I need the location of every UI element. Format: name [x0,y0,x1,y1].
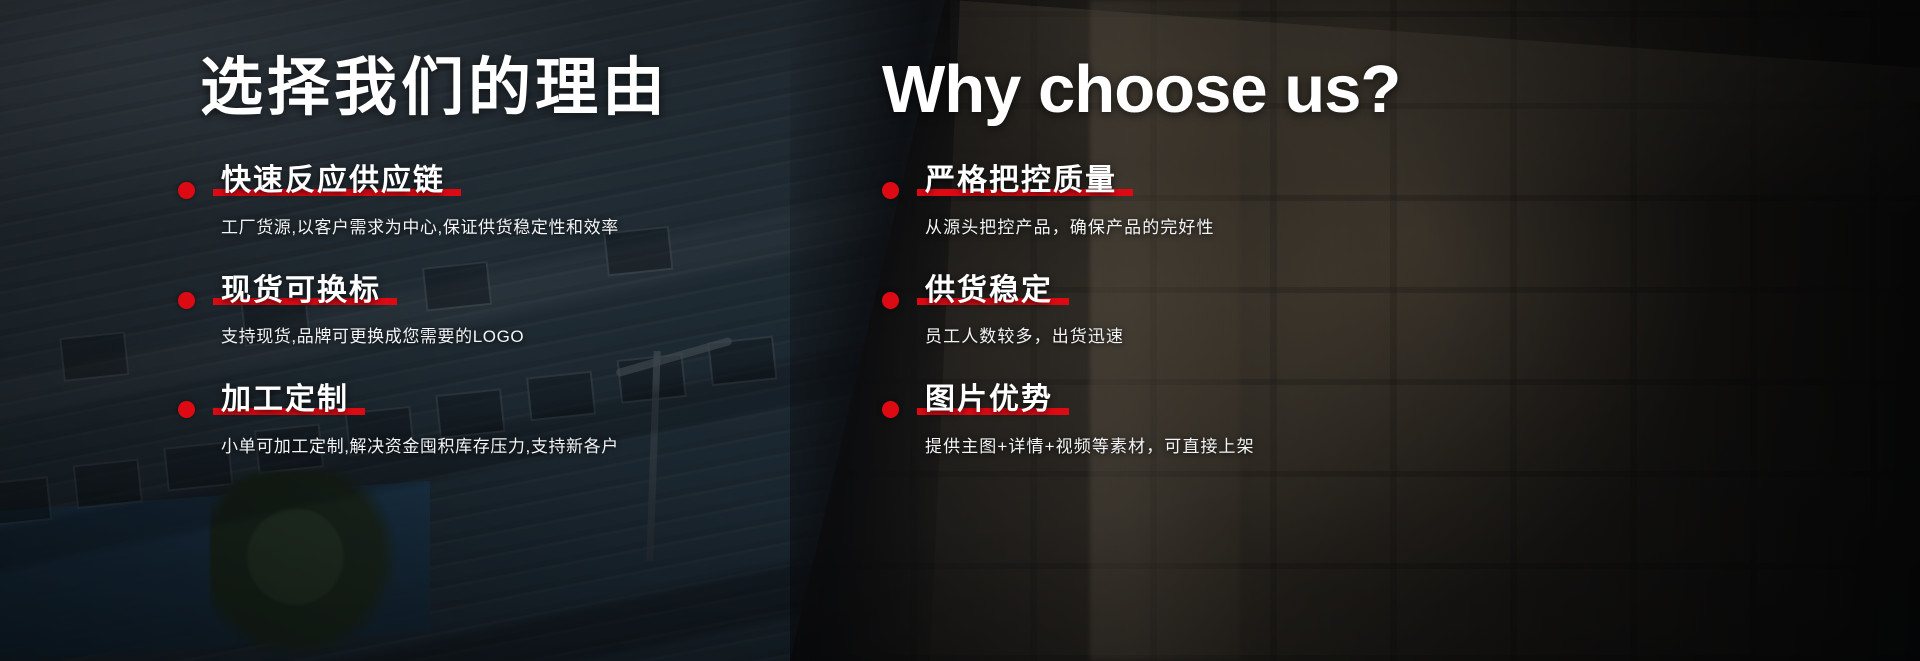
feature-description: 工厂货源,以客户需求为中心,保证供货稳定性和效率 [221,213,619,238]
feature-title-wrap: 图片优势 [925,381,1053,419]
feature-title: 快速反应供应链 [221,162,445,200]
feature-title: 图片优势 [925,381,1053,419]
feature-title-wrap: 供货稳定 [925,272,1053,310]
feature-item: 快速反应供应链 工厂货源,以客户需求为中心,保证供货稳定性和效率 [178,162,619,238]
bullet-dot-icon [882,292,899,309]
banner-content: 选择我们的理由 快速反应供应链 工厂货源,以客户需求为中心,保证供货稳定性和效率… [0,0,1920,661]
feature-description: 员工人数较多，出货迅速 [925,322,1255,347]
feature-item: 加工定制 小单可加工定制,解决资金囤积库存压力,支持新各户 [178,381,619,457]
feature-title-wrap: 严格把控质量 [925,162,1117,200]
left-column: 选择我们的理由 快速反应供应链 工厂货源,以客户需求为中心,保证供货稳定性和效率… [0,0,840,661]
feature-item: 图片优势 提供主图+详情+视频等素材，可直接上架 [882,381,1255,457]
page-title-chinese: 选择我们的理由 [200,57,669,120]
feature-description: 从源头把控产品，确保产品的完好性 [925,213,1255,238]
bullet-dot-icon [178,401,195,418]
feature-description: 支持现货,品牌可更换成您需要的LOGO [221,322,619,347]
bullet-dot-icon [178,182,195,199]
page-title-english: Why choose us? [882,56,1400,123]
feature-title: 现货可换标 [221,272,381,310]
feature-title: 供货稳定 [925,272,1053,310]
feature-title-wrap: 现货可换标 [221,272,381,310]
feature-item: 严格把控质量 从源头把控产品，确保产品的完好性 [882,162,1255,238]
feature-description: 提供主图+详情+视频等素材，可直接上架 [925,432,1255,457]
feature-list-english: 严格把控质量 从源头把控产品，确保产品的完好性 供货稳定 员工人数较多，出货迅速 [882,162,1255,457]
right-column: Why choose us? 严格把控质量 从源头把控产品，确保产品的完好性 供… [840,0,1920,661]
feature-title-wrap: 快速反应供应链 [221,162,445,200]
feature-title: 加工定制 [221,381,349,419]
bullet-dot-icon [882,182,899,199]
feature-item: 供货稳定 员工人数较多，出货迅速 [882,272,1255,348]
feature-description: 小单可加工定制,解决资金囤积库存压力,支持新各户 [221,432,619,457]
bullet-dot-icon [178,292,195,309]
feature-list-chinese: 快速反应供应链 工厂货源,以客户需求为中心,保证供货稳定性和效率 现货可换标 支… [178,162,619,457]
why-choose-us-banner: 选择我们的理由 快速反应供应链 工厂货源,以客户需求为中心,保证供货稳定性和效率… [0,0,1920,661]
bullet-dot-icon [882,401,899,418]
feature-title-wrap: 加工定制 [221,381,349,419]
feature-title: 严格把控质量 [925,162,1117,200]
feature-item: 现货可换标 支持现货,品牌可更换成您需要的LOGO [178,272,619,348]
